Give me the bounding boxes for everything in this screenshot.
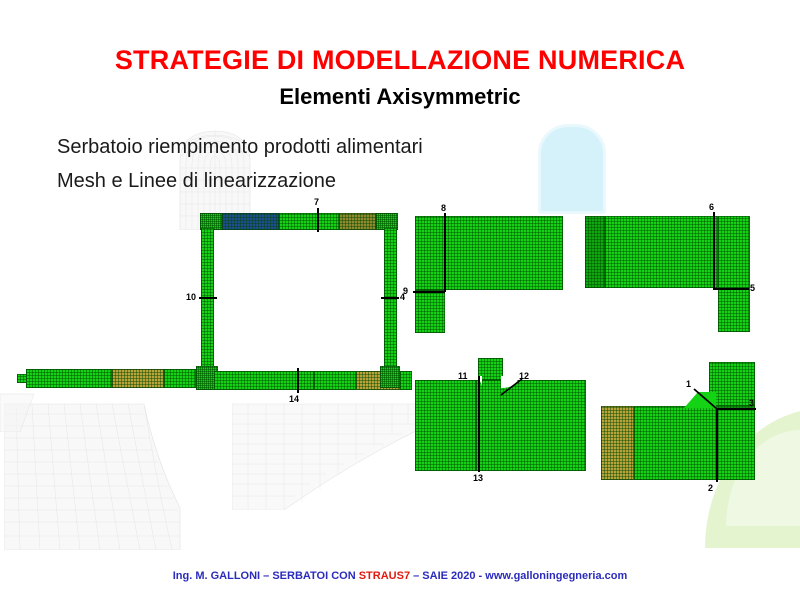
detail-tr-horizontal-flange bbox=[605, 216, 718, 288]
label-7: 7 bbox=[314, 197, 319, 207]
detail-tl-lower-stub bbox=[415, 290, 445, 333]
footer-highlight: STRAUS7 bbox=[359, 570, 410, 582]
main-bottom-green-left bbox=[214, 371, 314, 390]
main-left-wall bbox=[201, 228, 214, 380]
main-bottom-tail-olive bbox=[112, 369, 164, 388]
ghost-wireframe-lower-left bbox=[4, 398, 304, 550]
linearization-line-5 bbox=[713, 288, 749, 290]
detail-br-main-plate bbox=[634, 406, 755, 480]
detail-tr-dark-strip bbox=[585, 216, 605, 288]
detail-tr-lower-stub bbox=[718, 288, 750, 332]
page-title: STRATEGIE DI MODELLAZIONE NUMERICA bbox=[0, 45, 800, 76]
linearization-line-7 bbox=[317, 208, 319, 232]
ghost-wireframe-lower-middle bbox=[232, 398, 422, 510]
detail-tr-vertical-web bbox=[718, 216, 750, 288]
label-13: 13 bbox=[473, 473, 483, 483]
footer-tail: – SAIE 2020 - www.galloningegneria.com bbox=[410, 570, 627, 582]
footer-credit: Ing. M. GALLONI – SERBATOI CON STRAUS7 –… bbox=[0, 570, 800, 582]
main-top-green-segment bbox=[279, 213, 339, 230]
main-top-olive-segment bbox=[339, 213, 376, 230]
main-bottom-right-corner bbox=[380, 366, 400, 388]
main-top-blue-segment bbox=[222, 213, 279, 230]
linearization-line-10 bbox=[199, 297, 217, 299]
detail-tl-horizontal-flange bbox=[445, 216, 563, 290]
slide-canvas: 7 10 4 14 8 9 6 5 bbox=[0, 0, 800, 600]
label-11: 11 bbox=[458, 371, 468, 381]
detail-bl-nozzle-stub bbox=[478, 358, 503, 380]
detail-bl-right-plate bbox=[476, 380, 586, 471]
label-8: 8 bbox=[441, 203, 446, 213]
detail-br-olive-block bbox=[601, 406, 634, 480]
footer-main: Ing. M. GALLONI – SERBATOI CON bbox=[173, 570, 359, 582]
label-5: 5 bbox=[750, 283, 755, 293]
linearization-line-4 bbox=[381, 297, 399, 299]
linearization-line-11 bbox=[478, 376, 480, 472]
label-9: 9 bbox=[403, 286, 408, 296]
linearization-line-3 bbox=[716, 408, 756, 410]
label-6: 6 bbox=[709, 202, 714, 212]
linearization-line-9 bbox=[413, 291, 445, 293]
main-bottom-green-mid bbox=[314, 371, 356, 390]
label-14: 14 bbox=[289, 394, 299, 404]
linearization-line-6 bbox=[713, 212, 715, 290]
label-1: 1 bbox=[686, 379, 691, 389]
label-12: 12 bbox=[519, 371, 529, 381]
label-3: 3 bbox=[749, 398, 754, 408]
linearization-line-8 bbox=[444, 213, 446, 292]
page-subtitle: Elementi Axisymmetric bbox=[0, 84, 800, 110]
main-bottom-tail-green bbox=[164, 369, 196, 388]
label-10: 10 bbox=[186, 292, 196, 302]
main-right-wall bbox=[384, 228, 397, 378]
linearization-line-2 bbox=[716, 408, 718, 482]
description-line-1: Serbatoio riempimento prodotti alimentar… bbox=[57, 136, 423, 159]
main-bottom-tail bbox=[26, 369, 112, 388]
ghost-wireframe-sliver bbox=[0, 392, 40, 432]
detail-bl-left-plate bbox=[415, 380, 476, 471]
label-2: 2 bbox=[708, 483, 713, 493]
linearization-line-14 bbox=[297, 368, 299, 393]
description-line-2: Mesh e Linee di linearizzazione bbox=[57, 170, 336, 193]
main-bottom-green-right bbox=[400, 371, 412, 390]
tank-silhouette-cyan bbox=[538, 124, 606, 214]
detail-tl-vertical-web bbox=[415, 216, 445, 290]
